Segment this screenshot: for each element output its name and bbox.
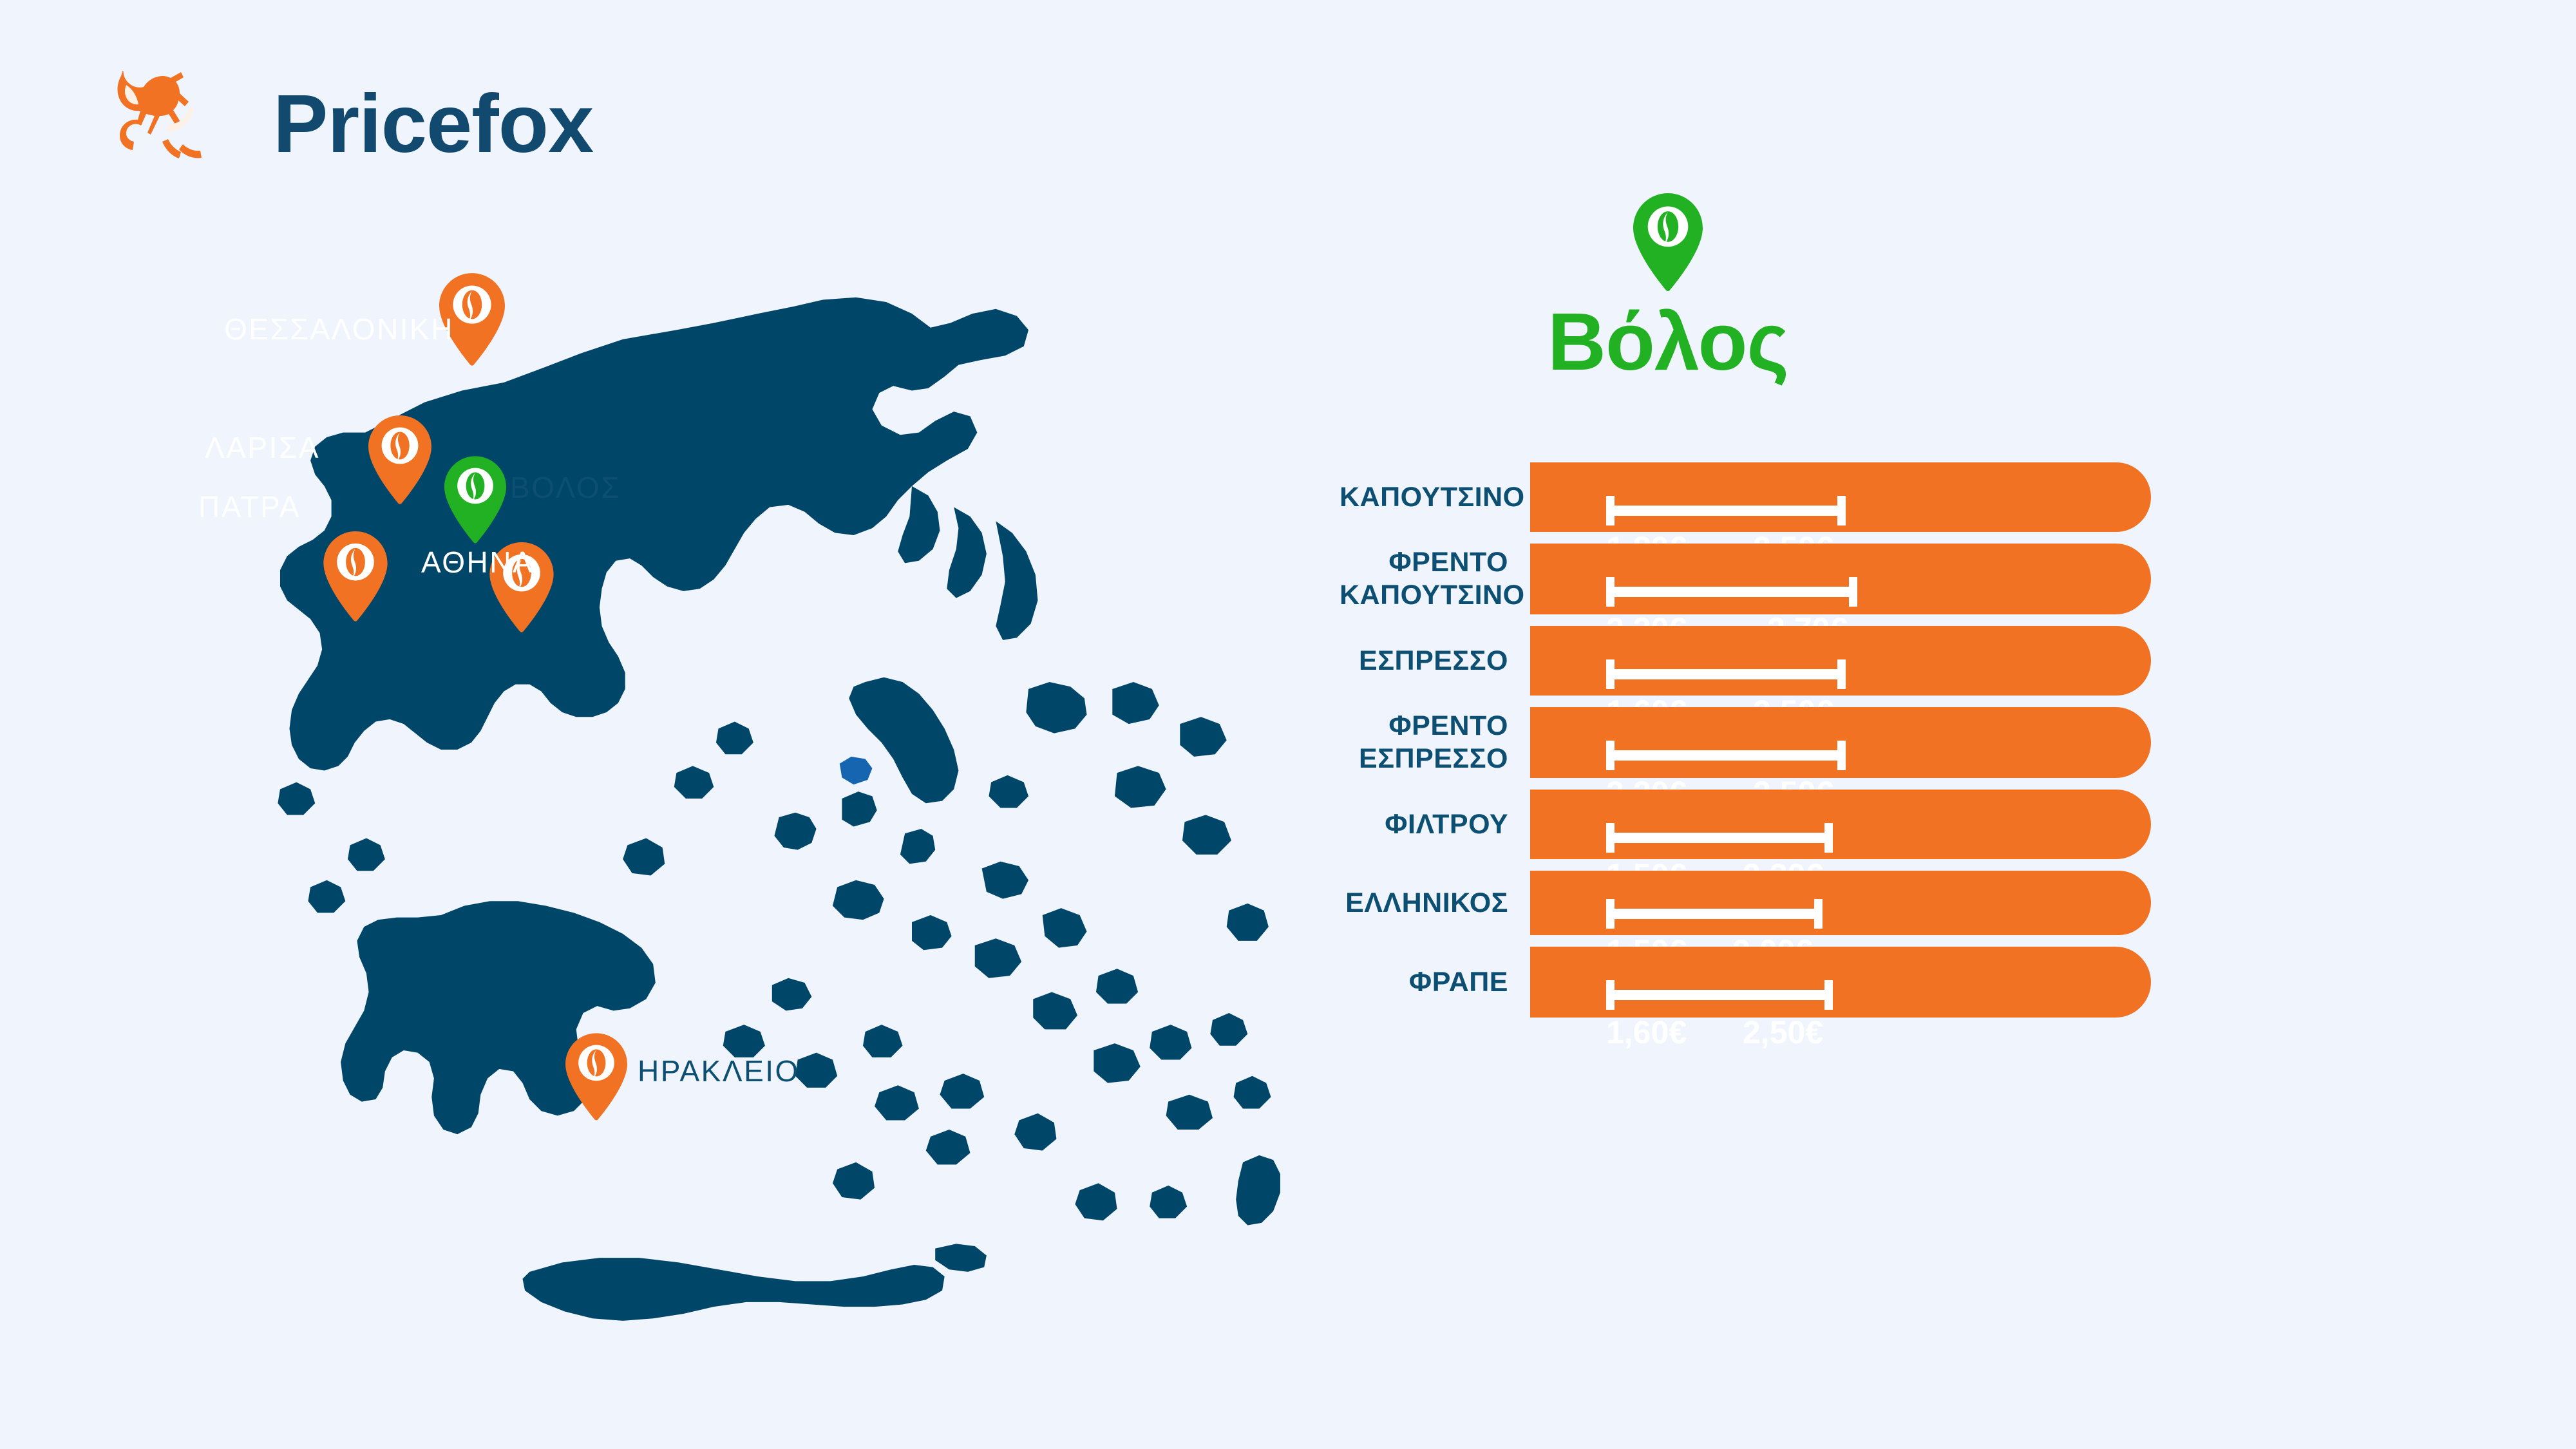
range-cap-max — [1824, 823, 1833, 853]
price-row-label: ΦΡΕΝΤΟ ΚΑΠΟΥΤΣΙΝΟ — [1340, 546, 1530, 611]
range-stem — [1606, 669, 1846, 679]
range-indicator — [1606, 577, 1857, 607]
range-indicator — [1606, 899, 1823, 929]
price-range-list: ΚΑΠΟΥΤΣΙΝΟ 1,80€ 2,50€ ΦΡΕΝΤΟ ΚΑΠΟΥΤΣΙΝ — [1340, 462, 2151, 1029]
range-cap-min — [1606, 980, 1615, 1010]
price-row-label: ΚΑΠΟΥΤΣΙΝΟ — [1340, 481, 1530, 514]
price-range-gauge: 1,60€ 2,50€ — [1606, 980, 1833, 1056]
range-indicator — [1606, 659, 1846, 689]
brand-wordmark: Pricefox — [273, 83, 593, 166]
price-row-bar: 1,60€ 2,50€ — [1530, 947, 2151, 1018]
price-row-bar: 2,20€ 2,50€ — [1530, 707, 2151, 778]
range-stem — [1606, 833, 1833, 843]
price-row-label: ΕΛΛΗΝΙΚΟΣ — [1340, 887, 1530, 920]
map-pin-patra[interactable] — [323, 531, 388, 623]
brand-logo: Pricefox — [103, 71, 593, 177]
range-stem — [1606, 990, 1833, 1000]
map-pin-larisa[interactable] — [368, 415, 431, 506]
price-min: 1,60€ — [1606, 1016, 1687, 1048]
price-row-filtrou[interactable]: ΦΙΛΤΡΟΥ 1,50€ 2,30€ — [1340, 790, 2151, 859]
range-cap-max — [1837, 741, 1846, 770]
range-indicator — [1606, 741, 1846, 770]
range-cap-min — [1606, 577, 1615, 607]
price-row-bar: 2,30€ 2,70€ — [1530, 544, 2151, 614]
price-row-kapoutsino[interactable]: ΚΑΠΟΥΤΣΙΝΟ 1,80€ 2,50€ — [1340, 462, 2151, 532]
price-row-bar: 1,50€ 2,00€ — [1530, 871, 2151, 935]
price-row-frape[interactable]: ΦΡΑΠΕ 1,60€ 2,50€ — [1340, 947, 2151, 1018]
selected-city-name: Βόλος — [1533, 301, 1803, 383]
price-row-bar: 1,50€ 2,30€ — [1530, 790, 2151, 859]
map-lake — [840, 757, 873, 784]
map-pin-volos[interactable] — [444, 456, 506, 545]
range-indicator — [1606, 823, 1833, 853]
price-row-frento-kapoutsino[interactable]: ΦΡΕΝΤΟ ΚΑΠΟΥΤΣΙΝΟ 2,30€ 2,70€ — [1340, 544, 2151, 614]
price-row-label: ΦΡΕΝΤΟ ΕΣΠΡΕΣΣΟ — [1340, 710, 1530, 775]
map-label-athina: ΑΘΗΝΑ — [421, 547, 534, 577]
range-cap-max — [1837, 496, 1846, 526]
map-label-thessaloniki: ΘΕΣΣΑΛΟΝΙΚΗ — [224, 314, 454, 344]
infographic-canvas: Pricefox — [0, 0, 2576, 1449]
range-cap-min — [1606, 741, 1615, 770]
fox-icon — [103, 71, 251, 177]
range-cap-min — [1606, 899, 1615, 929]
range-cap-max — [1849, 577, 1857, 607]
price-row-label: ΦΡΑΠΕ — [1340, 966, 1530, 999]
range-stem — [1606, 587, 1857, 597]
range-indicator — [1606, 496, 1846, 526]
price-row-bar: 1,60€ 2,50€ — [1530, 626, 2151, 696]
map-label-irakleio: ΗΡΑΚΛΕΙΟ — [638, 1056, 800, 1086]
map-pin-coffee-bean-icon — [1633, 193, 1703, 290]
range-indicator — [1606, 980, 1833, 1010]
range-stem — [1606, 750, 1846, 761]
range-cap-min — [1606, 659, 1615, 689]
price-row-espresso[interactable]: ΕΣΠΡΕΣΣΟ 1,60€ 2,50€ — [1340, 626, 2151, 696]
range-stem — [1606, 506, 1846, 516]
map-pin-irakleio[interactable] — [565, 1033, 627, 1122]
range-cap-min — [1606, 823, 1615, 853]
price-max: 2,50€ — [1743, 1016, 1823, 1048]
map-label-volos: ΒΟΛΟΣ — [510, 473, 621, 502]
price-row-label: ΕΣΠΡΕΣΣΟ — [1340, 645, 1530, 677]
price-row-label: ΦΙΛΤΡΟΥ — [1340, 808, 1530, 841]
map-label-patra: ΠΑΤΡΑ — [198, 492, 301, 522]
range-cap-max — [1824, 980, 1833, 1010]
price-row-frento-espresso[interactable]: ΦΡΕΝΤΟ ΕΣΠΡΕΣΣΟ 2,20€ 2,50€ — [1340, 707, 2151, 778]
range-cap-max — [1814, 899, 1823, 929]
range-stem — [1606, 909, 1823, 919]
range-cap-max — [1837, 659, 1846, 689]
selected-city-header: Βόλος — [1533, 193, 1803, 383]
greece-map: ΘΕΣΣΑΛΟΝΙΚΗ ΛΑΡΙΣΑ ΒΟΛΟΣ — [213, 213, 1378, 1385]
price-row-ellinikos[interactable]: ΕΛΛΗΝΙΚΟΣ 1,50€ 2,00€ — [1340, 871, 2151, 935]
map-label-larisa: ΛΑΡΙΣΑ — [205, 433, 320, 462]
price-values: 1,60€ 2,50€ — [1606, 1016, 1833, 1056]
price-row-bar: 1,80€ 2,50€ — [1530, 462, 2151, 532]
range-cap-min — [1606, 496, 1615, 526]
